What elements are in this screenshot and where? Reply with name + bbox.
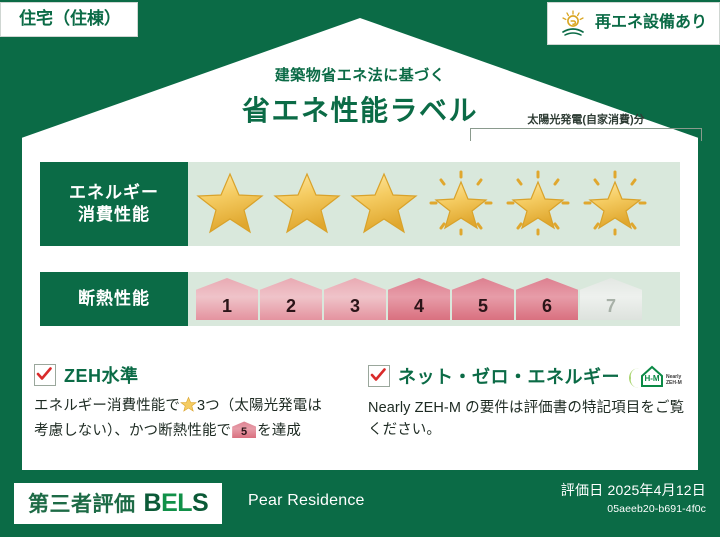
energy-performance-body: 太陽光発電(自家消費)分: [188, 162, 680, 246]
evaluation-meta: 評価日 2025年4月12日 05aeeb20-b691-4f0c: [561, 480, 706, 515]
title-subtitle: 建築物省エネ法に基づく: [0, 64, 720, 85]
zeh-criteria-header: ZEH水準: [34, 362, 334, 388]
solar-annotation: 太陽光発電(自家消費)分: [470, 114, 702, 141]
renewable-energy-badge: 再エネ設備あり: [547, 2, 720, 45]
insulation-level-badge-inline: 5: [232, 421, 256, 438]
insulation-level-badge-inactive: 7: [580, 278, 642, 320]
svg-text:ZEH-M: ZEH-M: [666, 380, 682, 386]
insulation-level-badge: 4: [388, 278, 450, 320]
insulation-performance-row: 断熱性能 1 2 3 4 5 6 7: [38, 270, 682, 328]
energy-label-line2: 消費性能: [78, 204, 150, 226]
zeh-text-part1: エネルギー消費性能で: [34, 398, 180, 414]
checkbox-checked-icon: [34, 364, 56, 386]
insulation-level-inline-value: 5: [232, 427, 256, 438]
net-zero-energy-title: ネット・ゼロ・エネルギー: [398, 363, 620, 389]
solar-annotation-bracket: [470, 128, 702, 141]
insulation-level-badge: 3: [324, 278, 386, 320]
evaluation-date: 評価日 2025年4月12日: [561, 480, 706, 500]
bels-certification-badge: 第三者評価 BELS: [14, 483, 222, 524]
svg-text:H-M: H-M: [644, 374, 659, 383]
evaluation-id: 05aeeb20-b691-4f0c: [561, 503, 706, 515]
star-solar-icon: [425, 168, 497, 240]
insulation-level-badge: 2: [260, 278, 322, 320]
renewable-energy-label: 再エネ設備あり: [595, 14, 707, 32]
star-solar-icon: [502, 168, 574, 240]
insulation-level-scale: 1 2 3 4 5 6 7: [188, 278, 642, 320]
bels-wordmark: BELS: [144, 489, 209, 518]
insulation-level-badge: 5: [452, 278, 514, 320]
insulation-level-badge: 6: [516, 278, 578, 320]
bels-letters-el: EL: [161, 489, 192, 517]
zeh-criteria-block: ZEH水準 エネルギー消費性能で3つ（太陽光発電は考慮しない）、かつ断熱性能で5…: [34, 362, 334, 443]
solar-annotation-label: 太陽光発電(自家消費)分: [470, 114, 702, 126]
energy-performance-label: エネルギー 消費性能: [40, 162, 188, 246]
energy-performance-row: エネルギー 消費性能 太陽光発電(自家消費)分: [38, 160, 682, 248]
net-zero-energy-header: ネット・ゼロ・エネルギー H-M Nearly ZEH-M: [368, 362, 686, 390]
energy-star-rating: [188, 168, 651, 240]
net-zero-energy-text: Nearly ZEH-M の要件は評価書の特記項目をご覧ください。: [368, 397, 686, 442]
zeh-criteria-title: ZEH水準: [64, 362, 139, 388]
star-solar-icon: [579, 168, 651, 240]
dwelling-type-badge: 住宅（住棟）: [0, 2, 138, 37]
third-party-eval-label: 第三者評価: [28, 488, 136, 518]
bels-letter-s: S: [192, 489, 208, 517]
insulation-level-badge: 1: [196, 278, 258, 320]
sun-icon: [558, 8, 588, 38]
star-icon: [348, 168, 420, 240]
zeh-criteria-text: エネルギー消費性能で3つ（太陽光発電は考慮しない）、かつ断熱性能で5を達成: [34, 395, 334, 443]
project-name: Pear Residence: [248, 492, 365, 510]
star-icon-inline: [180, 396, 197, 420]
label-footer: 第三者評価 BELS Pear Residence 評価日 2025年4月12日…: [0, 470, 720, 537]
zeh-text-part3: を達成: [257, 423, 301, 439]
energy-label-line1: エネルギー: [69, 182, 159, 204]
checkbox-checked-icon: [368, 365, 390, 387]
bels-letter-b: B: [144, 489, 162, 517]
bels-energy-label: 住宅（住棟） 再エネ設備あり 建築物省エネ法に基づく 省エネ性能ラベル: [0, 0, 720, 537]
insulation-label-text: 断熱性能: [78, 288, 150, 310]
insulation-performance-body: 1 2 3 4 5 6 7: [188, 272, 680, 326]
star-icon: [194, 168, 266, 240]
dwelling-type-label: 住宅（住棟）: [19, 9, 121, 28]
star-icon: [271, 168, 343, 240]
insulation-performance-label: 断熱性能: [40, 272, 188, 326]
nearly-zeh-m-logo-icon: H-M Nearly ZEH-M: [628, 362, 684, 390]
net-zero-energy-block: ネット・ゼロ・エネルギー H-M Nearly ZEH-M Nearly ZEH…: [368, 362, 686, 442]
